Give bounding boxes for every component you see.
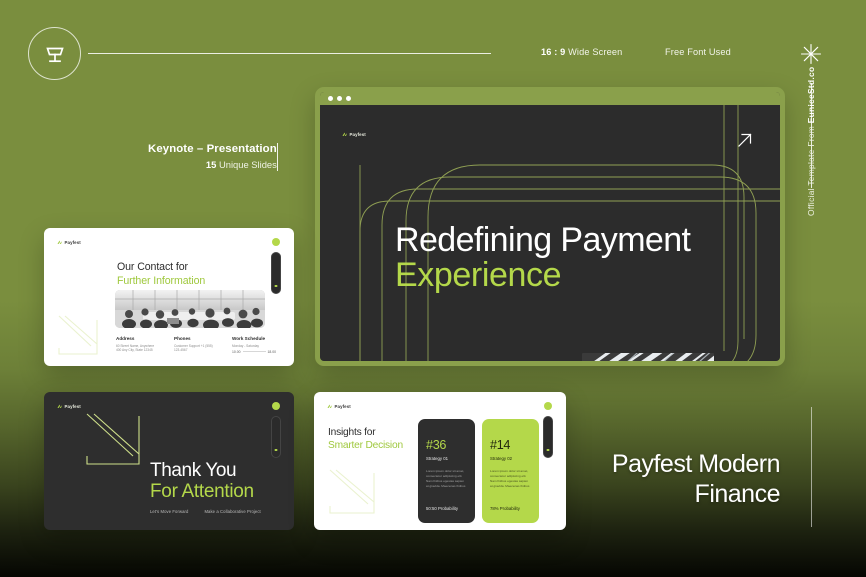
- insights-title-line1: Insights for: [328, 426, 403, 439]
- caption-divider: [277, 143, 278, 171]
- payfest-mark-icon: [327, 404, 332, 409]
- caption-slide-label: Unique Slides: [216, 159, 276, 170]
- arrow-up-right-icon[interactable]: [736, 131, 754, 149]
- contact-schedule-hours: 10.00 18.00: [232, 350, 276, 354]
- meta-free-font: Free Font Used: [665, 47, 731, 57]
- insight-card-strategy: Strategy 02: [490, 456, 531, 461]
- schedule-close-time: 18.00: [268, 350, 277, 354]
- slide-insights-title: Insights for Smarter Decision: [328, 426, 403, 453]
- insight-card[interactable]: #36 Strategy 01 Lorem ipsum dolor sit am…: [418, 419, 475, 523]
- meta-ratio-value: 16 : 9: [541, 47, 565, 57]
- slide-thanks-preview[interactable]: Payfest Thank You For Attention Let's Mo…: [44, 392, 294, 530]
- arrow-down-right-decoration-icon: [328, 468, 384, 516]
- diagonal-stripes-graphic: [582, 353, 714, 361]
- window-dot-minimize-icon[interactable]: [337, 96, 342, 101]
- scroll-pill[interactable]: [543, 416, 553, 458]
- product-title-line2: Finance: [560, 480, 780, 510]
- insight-card-number: #36: [426, 439, 467, 452]
- thanks-sub-2: Make a Collaborative Project: [204, 509, 260, 514]
- hero-title-line2: Experience: [395, 258, 690, 293]
- slide-hero-logo: Payfest: [342, 132, 366, 137]
- window-dot-close-icon[interactable]: [328, 96, 333, 101]
- arrow-down-right-decoration-icon: [57, 314, 109, 356]
- slide-hero-preview[interactable]: Payfest Redefining Payment Experience: [315, 87, 785, 366]
- insight-card-strategy: Strategy 01: [426, 456, 467, 461]
- status-dot: [272, 402, 280, 410]
- contact-phones-heading: Phones: [174, 336, 218, 341]
- slide-insights-logo: Payfest: [327, 404, 351, 409]
- contact-schedule-days: Monday - Saturday: [232, 344, 276, 349]
- thanks-title-line1: Thank You: [150, 461, 254, 482]
- status-dot: [544, 402, 552, 410]
- status-dot: [272, 238, 280, 246]
- insight-card-probability: 50:50 Probability: [426, 506, 458, 511]
- contact-title-line1: Our Contact for: [117, 261, 205, 275]
- poster-canvas: 16 : 9 Wide Screen Free Font Used Offici…: [0, 0, 866, 577]
- contact-title-line2: Further Information: [117, 275, 205, 289]
- schedule-divider: [243, 351, 266, 352]
- slide-contact-logo: Payfest: [57, 240, 81, 245]
- payfest-mark-icon: [342, 132, 347, 137]
- keynote-badge: [28, 27, 81, 80]
- meeting-room-photo: [115, 290, 265, 328]
- scroll-pill[interactable]: [271, 252, 281, 294]
- slide-thanks-logo: Payfest: [57, 404, 81, 409]
- contact-schedule-heading: Work Schedule: [232, 336, 276, 341]
- caption-subtitle: 15 Unique Slides: [148, 159, 277, 172]
- arrow-down-right-decoration-icon: [85, 412, 147, 468]
- template-credit: Official Template From EuniceStd.co: [806, 16, 816, 216]
- slide-insights-logo-text: Payfest: [335, 404, 351, 409]
- insight-card-number: #14: [490, 439, 531, 452]
- contact-column-schedule: Work Schedule Monday - Saturday 10.00 18…: [232, 336, 276, 354]
- credit-prefix: Official Template From: [806, 123, 816, 216]
- slide-hero-logo-text: Payfest: [350, 132, 366, 137]
- contact-address-body: 60 Street Name, Anywhere 400 Any City, S…: [116, 344, 160, 354]
- scroll-pill[interactable]: [271, 416, 281, 458]
- payfest-mark-icon: [57, 240, 62, 245]
- slide-hero-title: Redefining Payment Experience: [395, 223, 690, 292]
- insight-card[interactable]: #14 Strategy 02 Lorem ipsum dolor sit am…: [482, 419, 539, 523]
- contact-column-phones: Phones Customer Support +1 (555) 123-456…: [174, 336, 218, 354]
- window-chrome: [320, 92, 780, 105]
- slide-contact-logo-text: Payfest: [65, 240, 81, 245]
- insights-title-line2: Smarter Decision: [328, 439, 403, 452]
- slide-contact-title: Our Contact for Further Information: [117, 261, 205, 288]
- window-dot-maximize-icon[interactable]: [346, 96, 351, 101]
- caption-title: Keynote – Presentation: [148, 142, 277, 157]
- product-title-line1: Payfest Modern: [560, 450, 780, 480]
- slide-thanks-logo-text: Payfest: [65, 404, 81, 409]
- caption-slide-count: 15: [206, 159, 216, 170]
- contact-address-heading: Address: [116, 336, 160, 341]
- contact-phones-body: Customer Support +1 (555) 123-4567: [174, 344, 218, 354]
- slide-insights-preview[interactable]: Payfest Insights for Smarter Decision #3…: [314, 392, 566, 530]
- meta-ratio-label: Wide Screen: [565, 47, 622, 57]
- product-title: Payfest Modern Finance: [560, 450, 780, 509]
- credit-site: EuniceStd.co: [806, 67, 816, 124]
- deck-caption: Keynote – Presentation 15 Unique Slides: [148, 142, 277, 172]
- thanks-title-line2: For Attention: [150, 482, 254, 503]
- contact-column-address: Address 60 Street Name, Anywhere 400 Any…: [116, 336, 160, 354]
- insight-card-body: Lorem ipsum dolor sit amet, consectetur …: [490, 469, 531, 489]
- thanks-sub-1: Let's Move Forward: [150, 509, 188, 514]
- schedule-open-time: 10.00: [232, 350, 241, 354]
- contact-detail-columns: Address 60 Street Name, Anywhere 400 Any…: [116, 336, 276, 354]
- right-rail-bottom: [811, 407, 812, 527]
- header-rule: [88, 53, 491, 54]
- slide-thanks-subtitles: Let's Move Forward Make a Collaborative …: [150, 509, 261, 514]
- keynote-podium-icon: [42, 41, 68, 67]
- insight-card-body: Lorem ipsum dolor sit amet, consectetur …: [426, 469, 467, 489]
- slide-thanks-title: Thank You For Attention: [150, 461, 254, 502]
- insight-card-probability: 78% Probability: [490, 506, 520, 511]
- meta-aspect-ratio: 16 : 9 Wide Screen: [541, 47, 622, 57]
- hero-title-line1: Redefining Payment: [395, 223, 690, 258]
- slide-hero-body: Payfest Redefining Payment Experience: [320, 105, 780, 361]
- slide-contact-preview[interactable]: Payfest Our Contact for Further Informat…: [44, 228, 294, 366]
- payfest-mark-icon: [57, 404, 62, 409]
